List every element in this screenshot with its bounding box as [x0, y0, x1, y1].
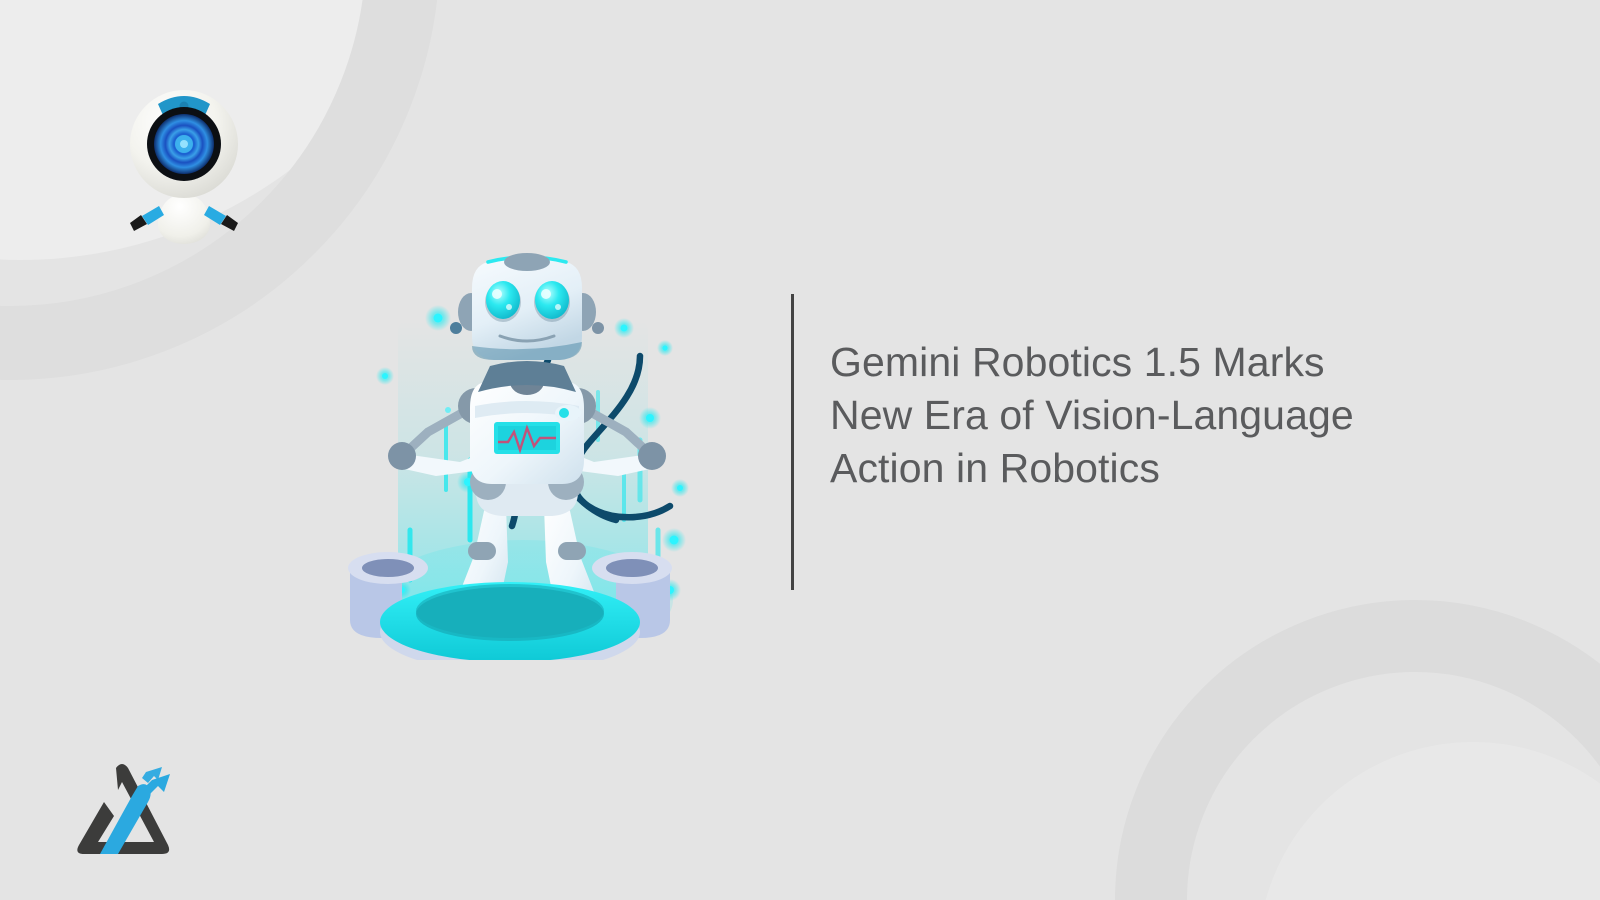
robot-chest-display — [494, 422, 560, 454]
headline-divider — [791, 294, 794, 590]
company-logo[interactable] — [66, 750, 184, 868]
decorative-circle-bottom-right-inner — [1258, 742, 1600, 900]
robot-head — [458, 253, 596, 360]
logo-arrow-icon — [142, 767, 170, 794]
robot-side-dot-left — [450, 322, 462, 334]
robot-head-antenna-base — [504, 253, 550, 271]
gemini-robot-illustration — [340, 170, 760, 660]
webcam-robot-lens-highlight — [180, 140, 188, 148]
robot-platform — [380, 582, 640, 660]
webcam-robot-body — [158, 194, 210, 244]
robot-side-dot-right — [592, 322, 604, 334]
article-banner: Gemini Robotics 1.5 Marks New Era of Vis… — [0, 0, 1600, 900]
webcam-robot-icon — [122, 82, 246, 248]
decorative-ring-bottom-right — [1115, 600, 1600, 900]
page-title: Gemini Robotics 1.5 Marks New Era of Vis… — [830, 336, 1430, 495]
